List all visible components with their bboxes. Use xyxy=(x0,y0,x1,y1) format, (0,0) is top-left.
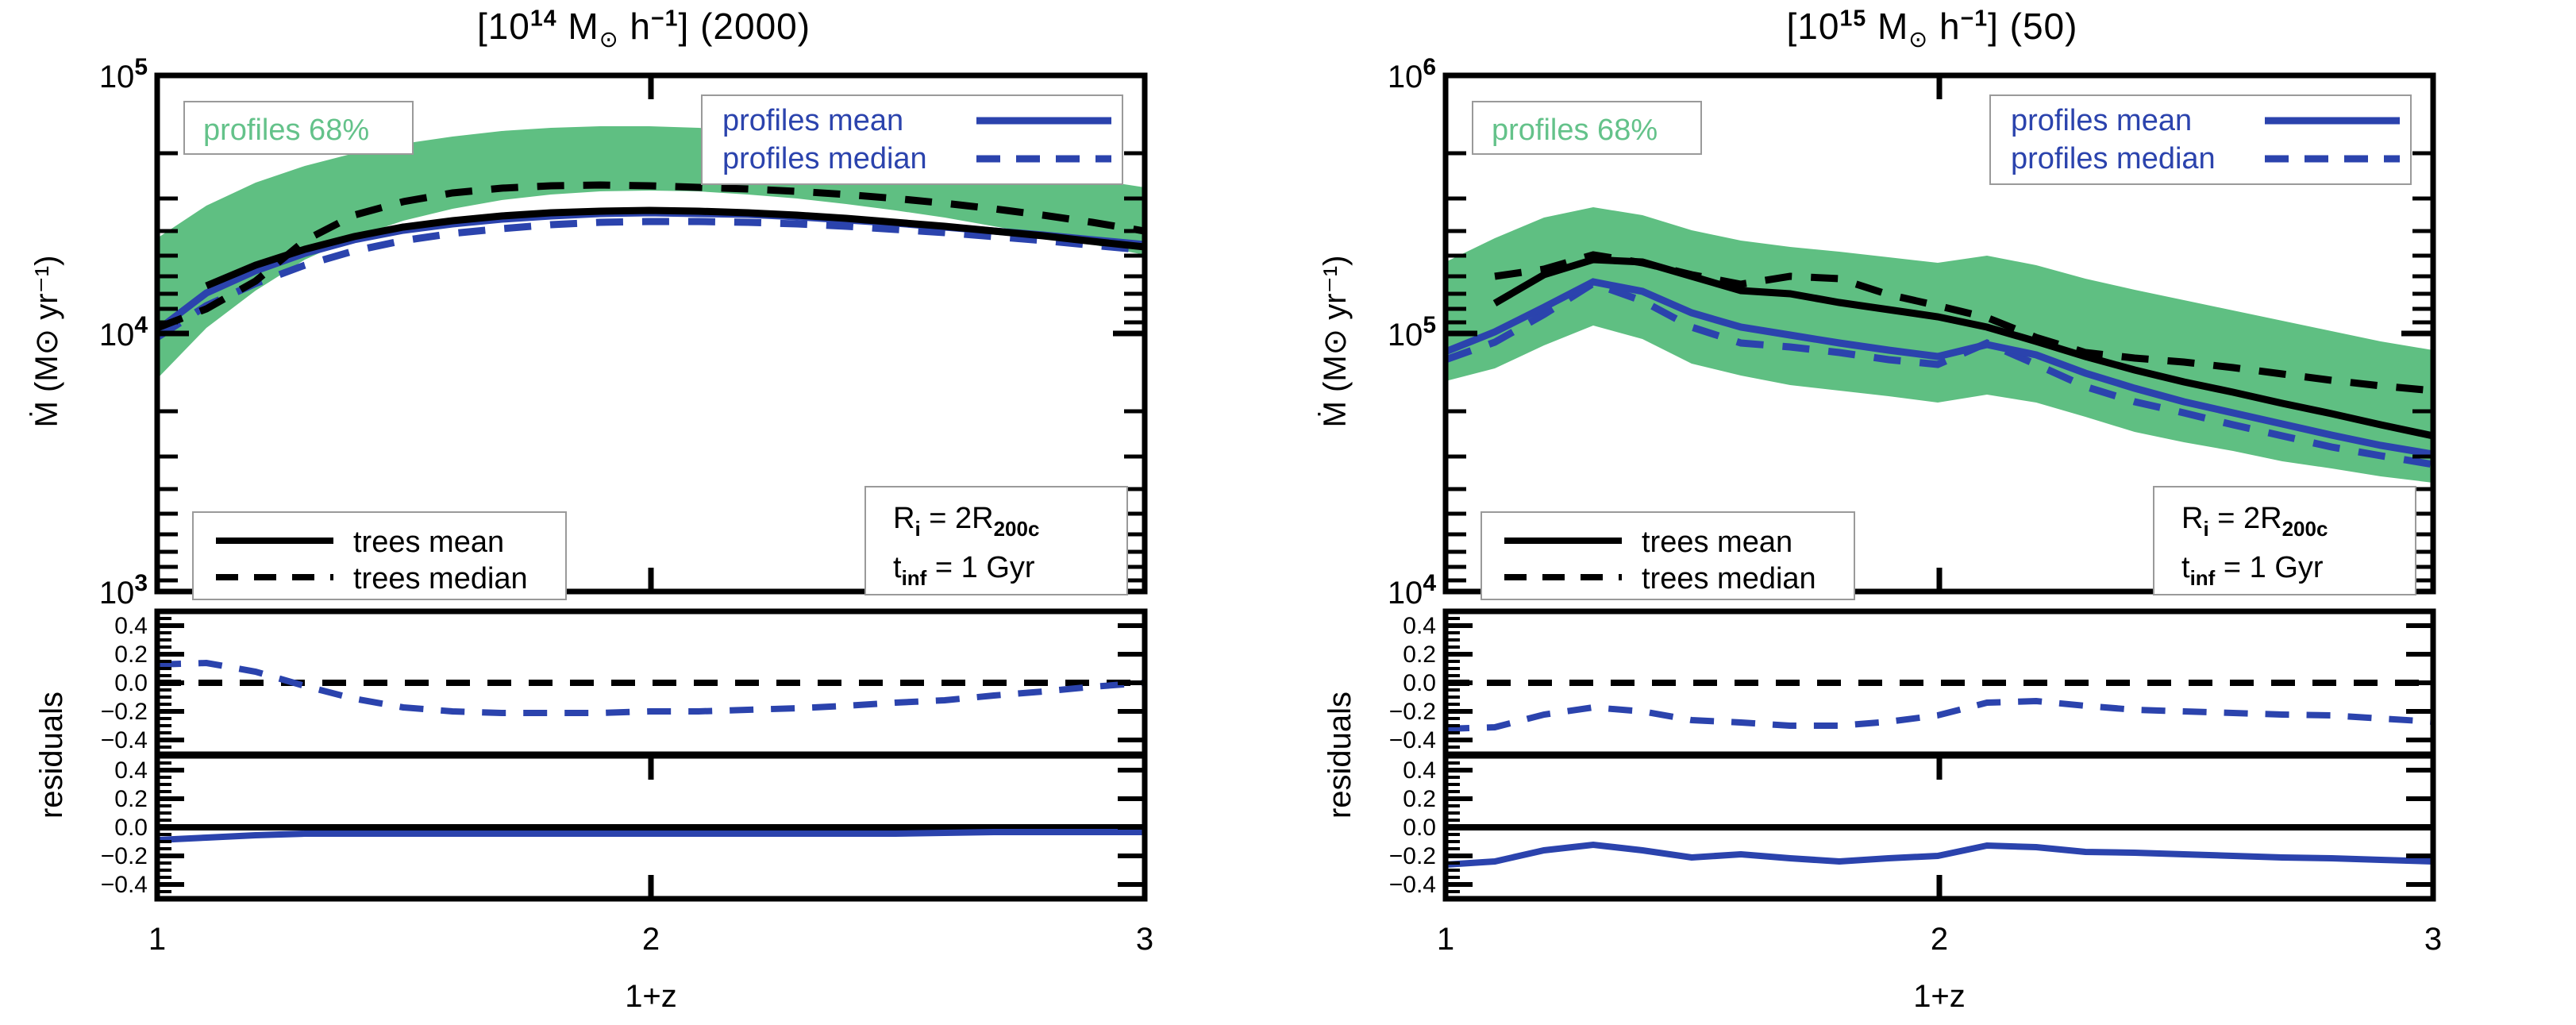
residual-series-profiles-median xyxy=(157,663,1145,713)
residual-median-ytick-2: 0.0 xyxy=(1403,670,1436,696)
main-ytick-label-2: 103 xyxy=(99,570,148,611)
residual-series-profiles-median xyxy=(1446,701,2433,729)
figure-root: [1014 M⊙ h−1] (2000) xyxy=(0,0,2576,1025)
main-ytick-label-2: 104 xyxy=(1388,570,1437,611)
residuals-axis-label: residuals xyxy=(1323,692,1357,819)
info-box-left: Ri = 2R200c tinf = 1 Gyr xyxy=(865,487,1127,595)
residual-mean-ytick-4: −0.4 xyxy=(101,872,148,898)
residual-mean-ytick-4: −0.4 xyxy=(1389,872,1436,898)
residual-panel-mean-left: 0.4 0.2 0.0 −0.2 −0.4 xyxy=(101,756,1145,899)
legend-profiles-median-label: profiles median xyxy=(2011,142,2216,175)
panel-left: [1014 M⊙ h−1] (2000) xyxy=(0,0,1288,1025)
info-box-right: Ri = 2R200c tinf = 1 Gyr xyxy=(2154,487,2416,595)
main-y-axis-label: Ṁ (M⊙ yr⁻¹) xyxy=(29,256,64,428)
legend-trees-mean-label: trees mean xyxy=(1642,526,1792,559)
residual-median-ytick-0: 0.4 xyxy=(114,613,148,639)
residual-median-ytick-4: −0.4 xyxy=(101,727,148,753)
legend-profiles-mean-label: profiles mean xyxy=(2011,104,2192,137)
legend-profiles-right[interactable]: profiles mean profiles median xyxy=(1990,95,2411,184)
residual-median-ytick-3: −0.2 xyxy=(101,699,148,725)
residual-median-ytick-1: 0.2 xyxy=(1403,642,1436,668)
xtick-label-0: 1 xyxy=(148,922,166,957)
residual-median-ytick-0: 0.4 xyxy=(1403,613,1436,639)
legend-band-left[interactable]: profiles 68% xyxy=(184,102,413,154)
panel-right-canvas: 106 105 104 Ṁ (M⊙ yr⁻¹) profiles 68% xyxy=(1288,0,2576,1025)
residual-median-ytick-3: −0.2 xyxy=(1389,699,1436,725)
residual-mean-ytick-3: −0.2 xyxy=(1389,843,1436,869)
main-ytick-label-0: 105 xyxy=(99,54,148,94)
main-y-axis-label: Ṁ (M⊙ yr⁻¹) xyxy=(1317,256,1353,428)
legend-profiles-left[interactable]: profiles mean profiles median xyxy=(702,95,1122,184)
xtick-label-1: 2 xyxy=(642,922,660,957)
residual-panel-median-left: 0.4 0.2 0.0 −0.2 −0.4 xyxy=(101,611,1145,754)
legend-trees-left[interactable]: trees mean trees median xyxy=(193,512,566,599)
xtick-label-0: 1 xyxy=(1437,922,1454,957)
residual-mean-ytick-0: 0.4 xyxy=(1403,757,1436,784)
main-ytick-label-1: 104 xyxy=(99,312,148,353)
residual-series-profiles-mean xyxy=(1446,845,2433,865)
x-axis-label: 1+z xyxy=(1913,979,1966,1014)
profiles-68-band xyxy=(1446,207,2433,483)
xtick-label-2: 3 xyxy=(2424,922,2442,957)
residual-panel-mean-right: 0.4 0.2 0.0 −0.2 −0.4 xyxy=(1389,756,2433,899)
legend-profiles-mean-label: profiles mean xyxy=(722,104,903,137)
panel-right: [1015 M⊙ h−1] (50) xyxy=(1288,0,2576,1025)
residual-median-ytick-2: 0.0 xyxy=(114,670,148,696)
residuals-axis-label: residuals xyxy=(34,692,69,819)
main-ytick-label-0: 106 xyxy=(1388,54,1436,94)
panel-left-canvas: 105 104 103 Ṁ (M⊙ yr⁻¹) profiles 68% xyxy=(0,0,1288,1025)
legend-band-right[interactable]: profiles 68% xyxy=(1473,102,1701,154)
legend-band-label: profiles 68% xyxy=(203,114,369,147)
residual-series-profiles-mean xyxy=(157,832,1145,840)
legend-band-label: profiles 68% xyxy=(1492,114,1658,147)
legend-trees-right[interactable]: trees mean trees median xyxy=(1481,512,1854,599)
residual-mean-ytick-3: −0.2 xyxy=(101,843,148,869)
x-axis-label: 1+z xyxy=(625,979,677,1014)
residual-mean-ytick-2: 0.0 xyxy=(1403,815,1436,841)
xtick-label-1: 2 xyxy=(1931,922,1948,957)
residual-mean-ytick-1: 0.2 xyxy=(1403,786,1436,812)
residual-mean-ytick-1: 0.2 xyxy=(114,786,148,812)
residual-median-ytick-1: 0.2 xyxy=(114,642,148,668)
residual-mean-ytick-2: 0.0 xyxy=(114,815,148,841)
legend-profiles-median-label: profiles median xyxy=(722,142,927,175)
residual-mean-ytick-0: 0.4 xyxy=(114,757,148,784)
main-ytick-label-1: 105 xyxy=(1388,312,1436,353)
residual-median-ytick-4: −0.4 xyxy=(1389,727,1436,753)
legend-trees-mean-label: trees mean xyxy=(353,526,504,559)
xtick-label-2: 3 xyxy=(1136,922,1153,957)
legend-trees-median-label: trees median xyxy=(353,562,528,595)
residual-panel-median-right: 0.4 0.2 0.0 −0.2 −0.4 xyxy=(1389,611,2433,754)
legend-trees-median-label: trees median xyxy=(1642,562,1816,595)
